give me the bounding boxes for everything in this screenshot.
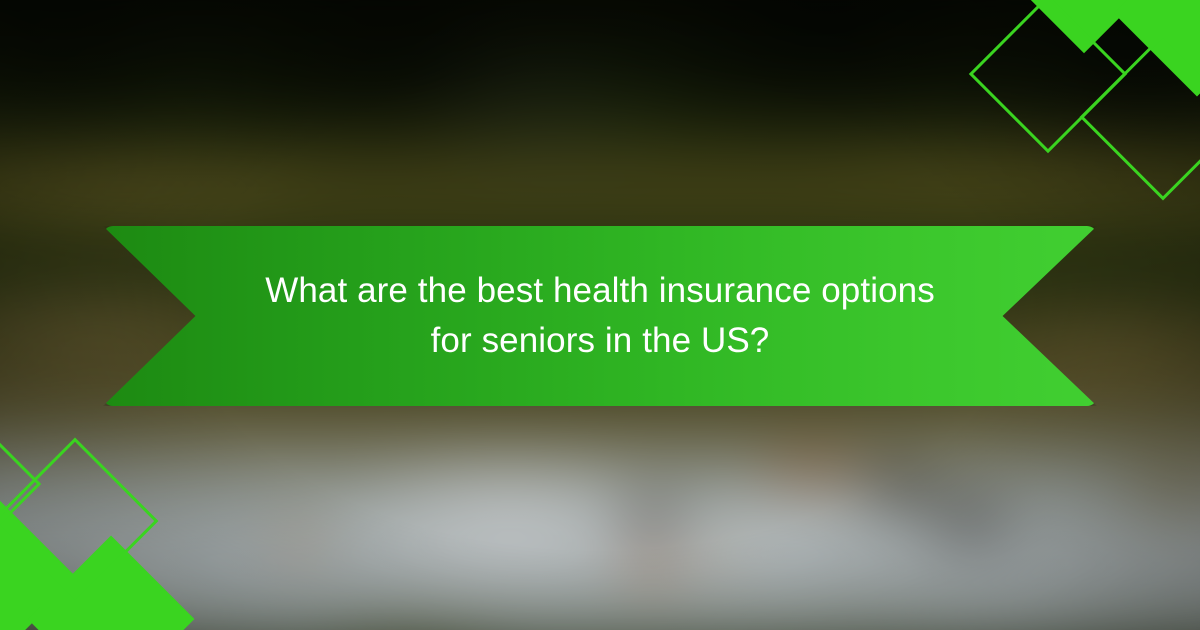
- headline-banner: What are the best health insurance optio…: [103, 226, 1097, 406]
- share-card: What are the best health insurance optio…: [0, 0, 1200, 630]
- headline-line-1: What are the best health insurance optio…: [265, 266, 935, 316]
- banner-text-block: What are the best health insurance optio…: [103, 226, 1097, 406]
- headline-line-2: for seniors in the US?: [431, 316, 770, 366]
